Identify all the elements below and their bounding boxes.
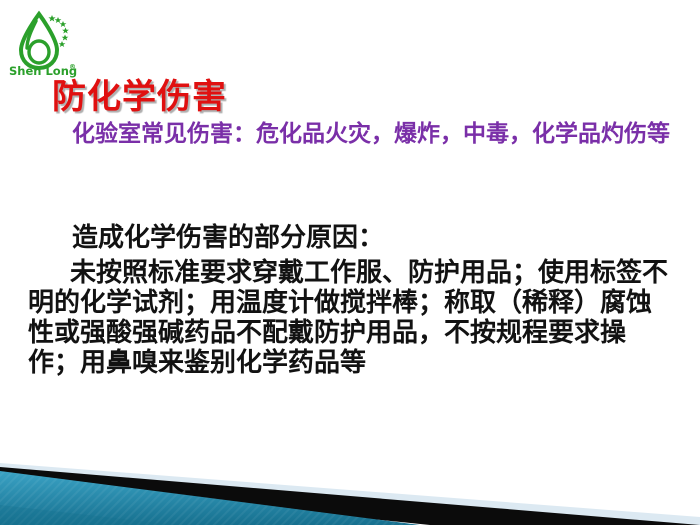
logo-registered-mark: ®	[69, 63, 76, 71]
body-paragraph: 未按照标准要求穿戴工作服、防护用品；使用标签不明的化学试剂；用温度计做搅拌棒；称…	[28, 258, 676, 378]
company-logo: Shen Long ®	[8, 8, 80, 80]
slide-title: 防化学伤害	[52, 80, 227, 114]
logo-brand-text: Shen Long	[9, 64, 77, 78]
bottom-diagonal-decoration	[0, 415, 700, 525]
body-heading: 造成化学伤害的部分原因：	[28, 222, 384, 254]
water-droplet-icon	[21, 14, 57, 68]
slide-subtitle: 化验室常见伤害：危化品火灾，爆炸，中毒，化学品灼伤等	[28, 120, 678, 149]
slide-canvas: Shen Long ® 防化学伤害 化验室常见伤害：危化品火灾，爆炸，中毒，化学…	[0, 0, 700, 525]
